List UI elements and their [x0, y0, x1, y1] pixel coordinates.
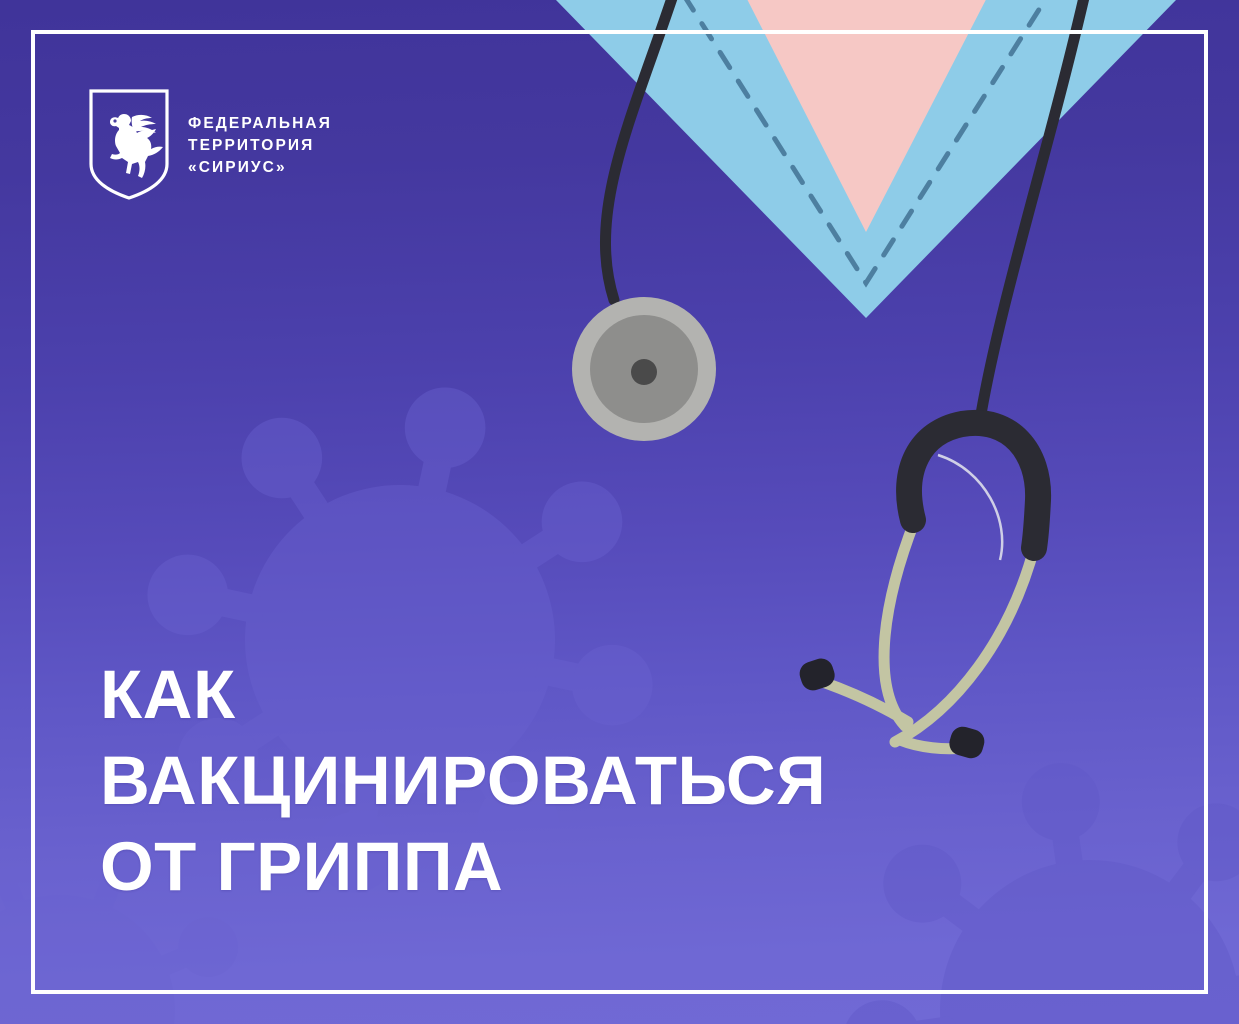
scrubs-collar-band: [556, 0, 1176, 252]
scrubs-stitching: [611, 0, 1121, 283]
headline-line-3: ОТ ГРИППА: [100, 824, 880, 910]
poster-canvas: ФЕДЕРАЛЬНАЯ ТЕРРИТОРИЯ «СИРИУС» КАК ВАКЦ…: [0, 0, 1239, 1024]
logo-line-2: ТЕРРИТОРИЯ: [188, 138, 332, 155]
sirius-logo: ФЕДЕРАЛЬНАЯ ТЕРРИТОРИЯ «СИРИУС»: [88, 88, 332, 201]
pegasus-shield-emblem: [88, 88, 170, 201]
headline-line-2: ВАКЦИНИРОВАТЬСЯ: [100, 738, 880, 824]
headline-line-1: КАК: [100, 652, 880, 738]
logo-line-1: ФЕДЕРАЛЬНАЯ: [188, 116, 332, 133]
scrubs-inner-chest: [676, 0, 1058, 232]
page-title: КАК ВАКЦИНИРОВАТЬСЯ ОТ ГРИППА: [100, 652, 880, 910]
logo-line-3: «СИРИУС»: [188, 160, 332, 177]
logo-text-block: ФЕДЕРАЛЬНАЯ ТЕРРИТОРИЯ «СИРИУС»: [188, 112, 332, 176]
stethoscope-chestpiece: [572, 297, 716, 441]
stethoscope-tubing: [605, 0, 1088, 420]
scrubs-collar: [540, 0, 1176, 318]
